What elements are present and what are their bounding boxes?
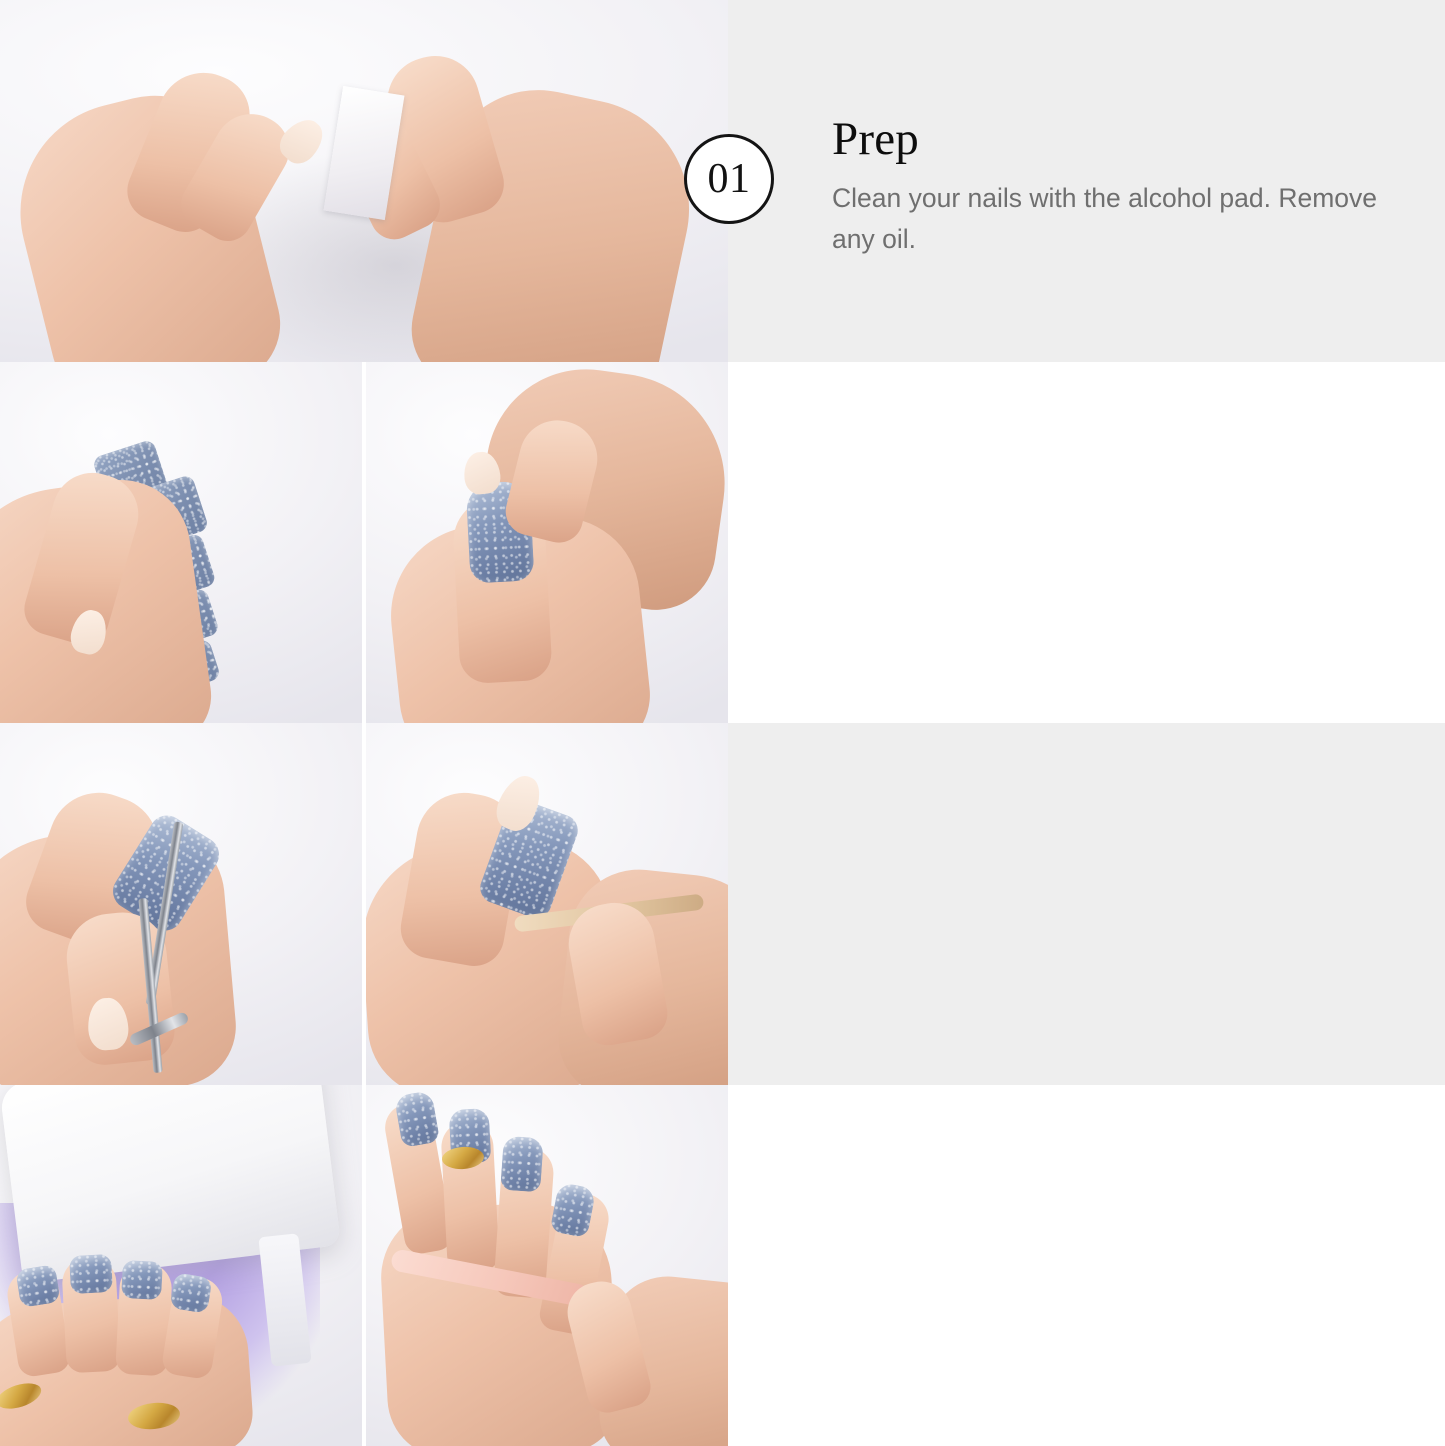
step-badge-01: 01 [684,134,774,224]
step-02-media [0,362,728,724]
photo-file-edges [364,1085,728,1446]
cured-blue-nail [121,1259,163,1299]
step-04-media [0,1085,728,1446]
step-row-04: 04 Cure & Smooth Cure the strips under U… [0,1085,1445,1446]
cured-blue-nail [169,1272,212,1314]
cured-blue-nail [69,1253,113,1293]
finished-blue-nail [500,1135,544,1192]
step-03-text-panel [728,723,1445,1085]
step-badge-01-number: 01 [708,158,751,200]
photo-divider [362,362,366,724]
step-01-description: Clean your nails with the alcohol pad. R… [832,178,1392,260]
step-row-02: 02 Select & Apply Select the strip sligh… [0,362,1445,724]
step-01-media [0,0,728,362]
step-03-media [0,723,728,1085]
step-04-text-panel [728,1085,1445,1446]
photo-clip-excess [0,723,364,1085]
photo-press-edges [364,723,728,1085]
step-row-03: 03 Trim & Press Firmly press the edges o… [0,723,1445,1085]
photo-apply-strip [364,362,728,724]
photo-strip-sheet [0,362,364,724]
photo-divider [362,1085,366,1446]
photo-uv-lamp-cure [0,1085,364,1446]
step-02-text-panel [728,362,1445,724]
photo-divider [362,723,366,1085]
cured-blue-nail [15,1264,60,1308]
step-row-01: 01 Prep Clean your nails with the alcoho… [0,0,1445,362]
step-01-title: Prep [832,116,1392,164]
step-01-copy: Prep Clean your nails with the alcohol p… [832,116,1392,260]
photo-prep-alcohol-pad [0,0,728,362]
instruction-sheet: 01 Prep Clean your nails with the alcoho… [0,0,1445,1446]
